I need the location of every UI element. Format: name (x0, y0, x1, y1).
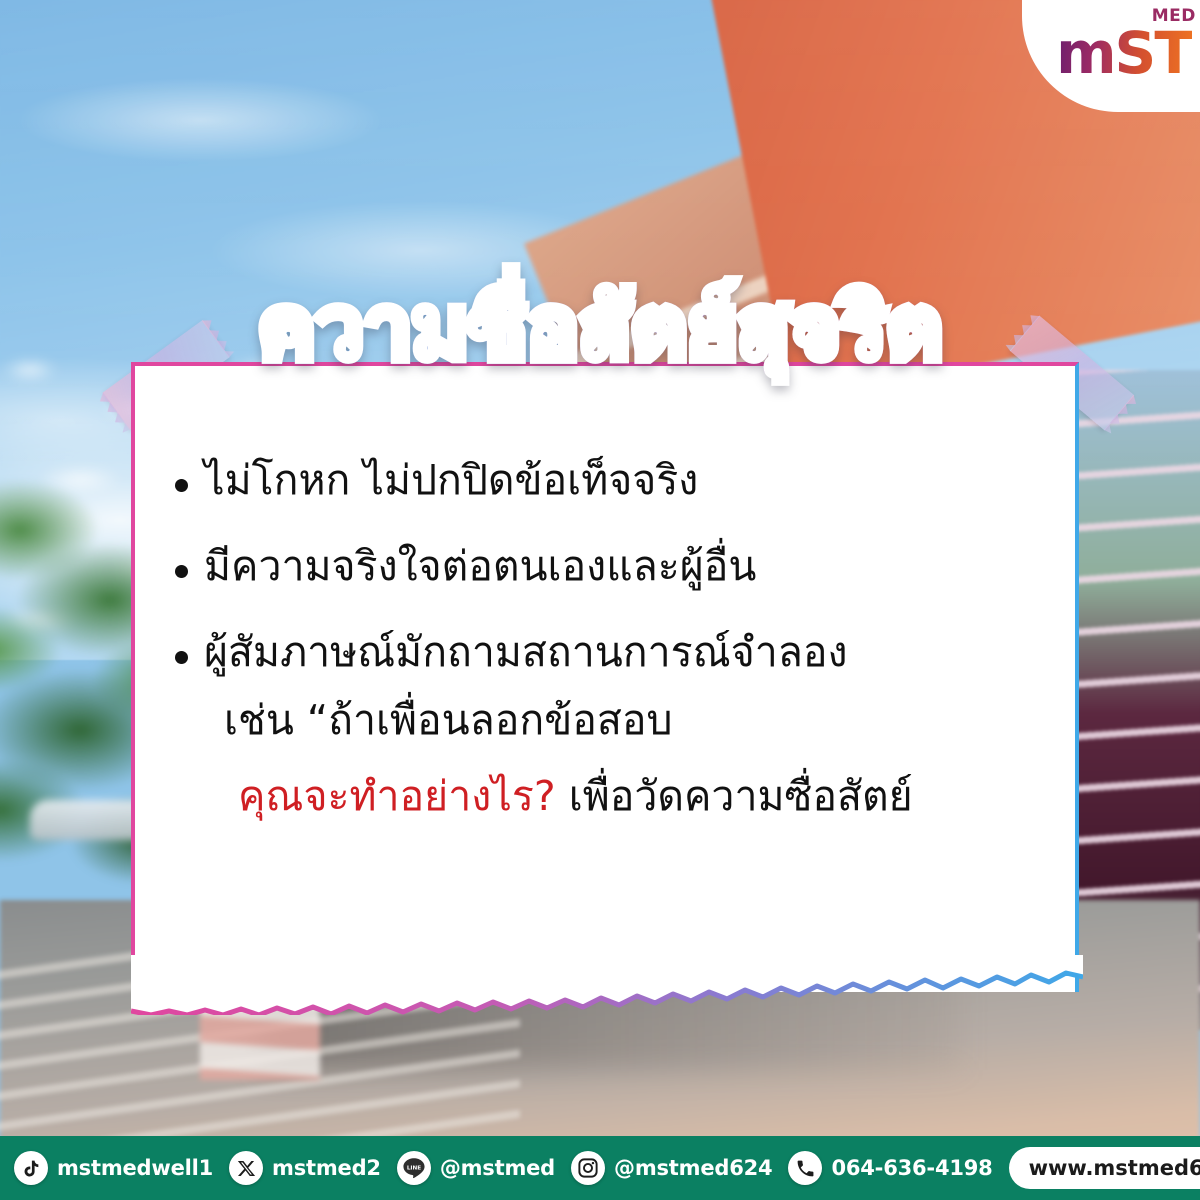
logo-wrap: mST MED (1056, 24, 1192, 82)
instagram-icon[interactable] (571, 1151, 605, 1185)
social-label-line: @mstmed (440, 1156, 555, 1180)
phone-icon[interactable] (788, 1151, 822, 1185)
tiktok-icon[interactable] (14, 1151, 48, 1185)
poster-canvas: mST MED ความซื่อสัต (0, 0, 1200, 1200)
social-item-x[interactable]: mstmed2 (229, 1151, 381, 1185)
website-pill[interactable]: www.mstmed624.com (1009, 1147, 1200, 1189)
social-label-tiktok: mstmedwell1 (57, 1156, 213, 1180)
social-label-instagram: @mstmed624 (614, 1156, 772, 1180)
svg-text:LINE: LINE (407, 1166, 421, 1172)
website-url-label: www.mstmed624.com (1029, 1156, 1200, 1180)
social-item-instagram[interactable]: @mstmed624 (571, 1151, 772, 1185)
list-item: มีความจริงใจต่อตนเองและผู้อื่น (175, 541, 1055, 591)
contact-item-phone[interactable]: 064-636-4198 (788, 1151, 992, 1185)
social-footer-bar: mstmedwell1 mstmed2 LINE @mstmed (0, 1136, 1200, 1200)
list-item-label: ไม่โกหก ไม่ปกปิดข้อเท็จจริง (204, 455, 1055, 505)
final-line-rest: เพื่อวัดความซื่อสัตย์ (556, 772, 913, 820)
poster-title: ความซื่อสัตย์สุจริต (0, 283, 1200, 373)
list-item-label: ผู้สัมภาษณ์มักถามสถานการณ์จำลอง (204, 627, 1055, 677)
logo-wordmark: mST (1056, 24, 1192, 82)
final-line: คุณจะทำอย่างไร? เพื่อวัดความซื่อสัตย์ (238, 771, 1055, 821)
phone-number-label: 064-636-4198 (831, 1156, 992, 1180)
torn-edge-shape (131, 955, 1083, 1015)
list-item: ไม่โกหก ไม่ปกปิดข้อเท็จจริง (175, 455, 1055, 505)
x-twitter-icon[interactable] (229, 1151, 263, 1185)
bullet-dot-icon (175, 565, 188, 578)
line-icon[interactable]: LINE (397, 1151, 431, 1185)
social-item-line[interactable]: LINE @mstmed (397, 1151, 555, 1185)
list-item-label: มีความจริงใจต่อตนเองและผู้อื่น (204, 541, 1055, 591)
final-line-accent: คุณจะทำอย่างไร? (238, 772, 556, 820)
social-item-tiktok[interactable]: mstmedwell1 (14, 1151, 213, 1185)
bullet-dot-icon (175, 651, 188, 664)
social-label-x: mstmed2 (272, 1156, 381, 1180)
example-quote-line: เช่น “ถ้าเพื่อนลอกข้อสอบ (224, 695, 1055, 745)
card-torn-edge (131, 955, 1083, 1015)
list-item: ผู้สัมภาษณ์มักถามสถานการณ์จำลอง (175, 627, 1055, 677)
card-body: ไม่โกหก ไม่ปกปิดข้อเท็จจริง มีความจริงใจ… (175, 455, 1055, 821)
bullet-dot-icon (175, 479, 188, 492)
logo-superscript: MED (1152, 6, 1196, 26)
